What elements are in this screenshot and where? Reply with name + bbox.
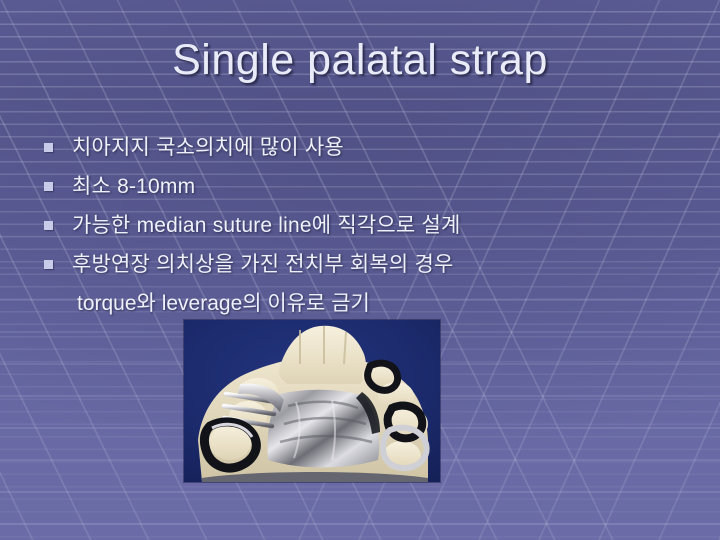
- list-item: 가능한 median suture line에 직각으로 설계: [44, 209, 680, 242]
- list-item-continuation: torque와 leverage의 이유로 금기: [44, 287, 680, 320]
- presentation-slide: Single palatal strap 치아지지 국소의치에 많이 사용 최소…: [0, 0, 720, 540]
- list-item-label: 가능한 median suture line에 직각으로 설계: [72, 209, 461, 242]
- list-item-label: 후방연장 의치상을 가진 전치부 회복의 경우: [72, 248, 454, 281]
- square-bullet-icon: [44, 221, 53, 230]
- square-bullet-icon: [44, 182, 53, 191]
- list-item: 치아지지 국소의치에 많이 사용: [44, 131, 680, 164]
- list-item-continuation-label: torque와 leverage의 이유로 금기: [72, 287, 370, 320]
- dental-cast-illustration: [184, 320, 440, 482]
- list-item: 최소 8-10mm: [44, 170, 680, 203]
- list-item-label: 최소 8-10mm: [72, 170, 195, 203]
- square-bullet-icon: [44, 143, 53, 152]
- square-bullet-icon: [44, 260, 53, 269]
- dental-cast-photo: [184, 320, 440, 482]
- slide-body: 치아지지 국소의치에 많이 사용 최소 8-10mm 가능한 median su…: [44, 131, 680, 326]
- list-item-label: 치아지지 국소의치에 많이 사용: [72, 131, 344, 164]
- list-item: 후방연장 의치상을 가진 전치부 회복의 경우: [44, 248, 680, 281]
- slide-title: Single palatal strap: [0, 36, 720, 85]
